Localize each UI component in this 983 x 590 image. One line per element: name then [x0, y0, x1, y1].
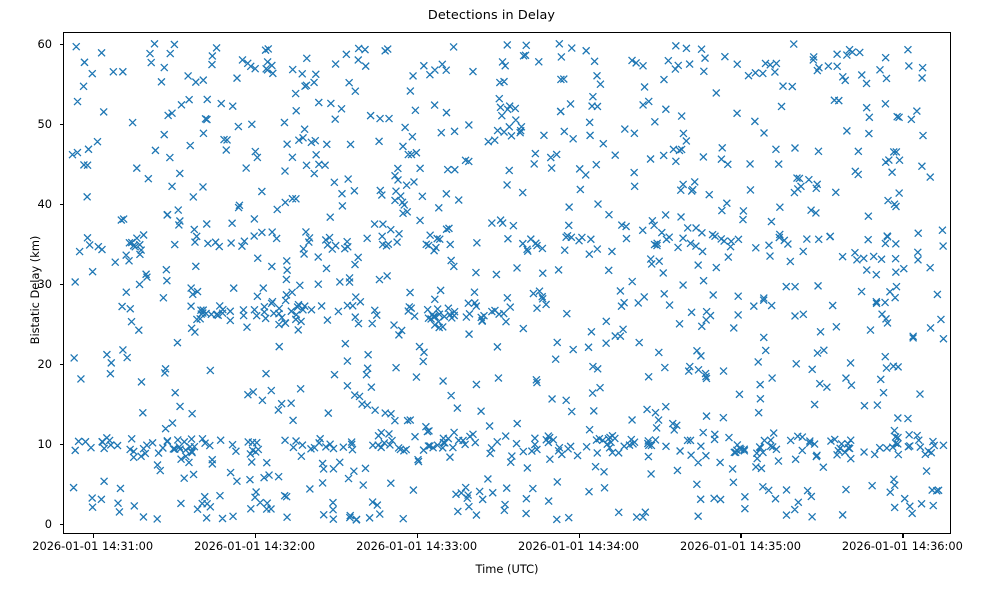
x-tick-label: 2026-01-01 14:32:00 [194, 539, 315, 553]
plot-axes [63, 32, 951, 534]
page-title: Detections in Delay [0, 8, 983, 23]
y-tick-mark [60, 284, 64, 285]
y-tick-mark [60, 524, 64, 525]
x-tick-label: 2026-01-01 14:35:00 [680, 539, 801, 553]
x-tick-label: 2026-01-01 14:34:00 [518, 539, 639, 553]
y-tick-mark [60, 124, 64, 125]
y-tick-mark [60, 444, 64, 445]
y-tick-mark [60, 204, 64, 205]
y-axis-label: Bistatic Delay (km) [28, 140, 42, 440]
y-tick-label: 30 [0, 277, 52, 291]
x-tick-mark [417, 534, 418, 538]
y-tick-label: 60 [0, 37, 52, 51]
scatter-series [64, 33, 950, 533]
x-tick-label: 2026-01-01 14:36:00 [842, 539, 963, 553]
y-tick-label: 50 [0, 117, 52, 131]
scatter-markers [69, 40, 947, 523]
x-tick-mark [255, 534, 256, 538]
x-tick-label: 2026-01-01 14:31:00 [32, 539, 153, 553]
x-axis-label: Time (UTC) [63, 562, 951, 576]
x-tick-mark [740, 534, 741, 538]
y-tick-mark [60, 44, 64, 45]
y-tick-mark [60, 364, 64, 365]
x-tick-mark [579, 534, 580, 538]
x-tick-mark [93, 534, 94, 538]
plot-surface [64, 33, 950, 533]
y-tick-label: 20 [0, 357, 52, 371]
x-tick-mark [902, 534, 903, 538]
y-tick-label: 40 [0, 197, 52, 211]
matplotlib-figure: Detections in Delay 2026-01-01 14:31:002… [0, 0, 983, 590]
y-tick-label: 10 [0, 437, 52, 451]
x-tick-label: 2026-01-01 14:33:00 [356, 539, 477, 553]
y-tick-label: 0 [0, 517, 52, 531]
